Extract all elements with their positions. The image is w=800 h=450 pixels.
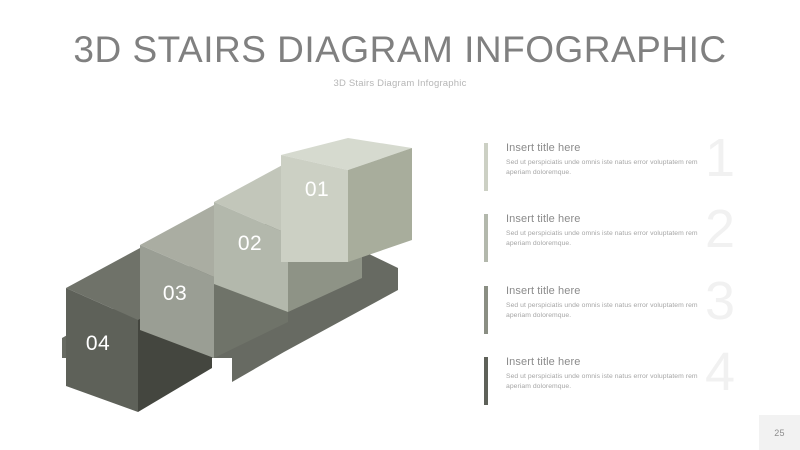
stair-block-04-label: 04 [86, 332, 110, 355]
list-item[interactable]: 4 Insert title here Sed ut perspiciatis … [484, 355, 730, 407]
list-item-body: Sed ut perspiciatis unde omnis iste natu… [506, 301, 706, 321]
list-item[interactable]: 1 Insert title here Sed ut perspiciatis … [484, 141, 730, 193]
list-item-text: Insert title here Sed ut perspiciatis un… [506, 141, 716, 178]
list-item-body: Sed ut perspiciatis unde omnis iste natu… [506, 229, 706, 249]
accent-bar [484, 357, 488, 405]
list-item-body: Sed ut perspiciatis unde omnis iste natu… [506, 372, 706, 392]
accent-bar [484, 143, 488, 191]
list-item-body: Sed ut perspiciatis unde omnis iste natu… [506, 158, 706, 178]
stair-block-01-front [281, 155, 348, 262]
list-item-title: Insert title here [506, 284, 716, 298]
list-item[interactable]: 2 Insert title here Sed ut perspiciatis … [484, 212, 730, 264]
slide-canvas: 3D STAIRS DIAGRAM INFOGRAPHIC 3D Stairs … [0, 0, 800, 450]
accent-bar [484, 214, 488, 262]
list-item-text: Insert title here Sed ut perspiciatis un… [506, 284, 716, 321]
list-item-text: Insert title here Sed ut perspiciatis un… [506, 355, 716, 392]
stairs-diagram: 04 03 02 01 [0, 0, 470, 450]
page-number: 25 [759, 415, 800, 450]
accent-bar [484, 286, 488, 334]
stair-block-03-label: 03 [163, 282, 187, 305]
list-item-title: Insert title here [506, 212, 716, 226]
legend-list: 1 Insert title here Sed ut perspiciatis … [484, 141, 730, 416]
stair-block-01[interactable]: 01 [281, 138, 412, 262]
stair-block-01-label: 01 [305, 178, 329, 201]
stair-block-02-label: 02 [238, 232, 262, 255]
list-item-title: Insert title here [506, 355, 716, 369]
list-item-text: Insert title here Sed ut perspiciatis un… [506, 212, 716, 249]
list-item[interactable]: 3 Insert title here Sed ut perspiciatis … [484, 284, 730, 336]
list-item-title: Insert title here [506, 141, 716, 155]
